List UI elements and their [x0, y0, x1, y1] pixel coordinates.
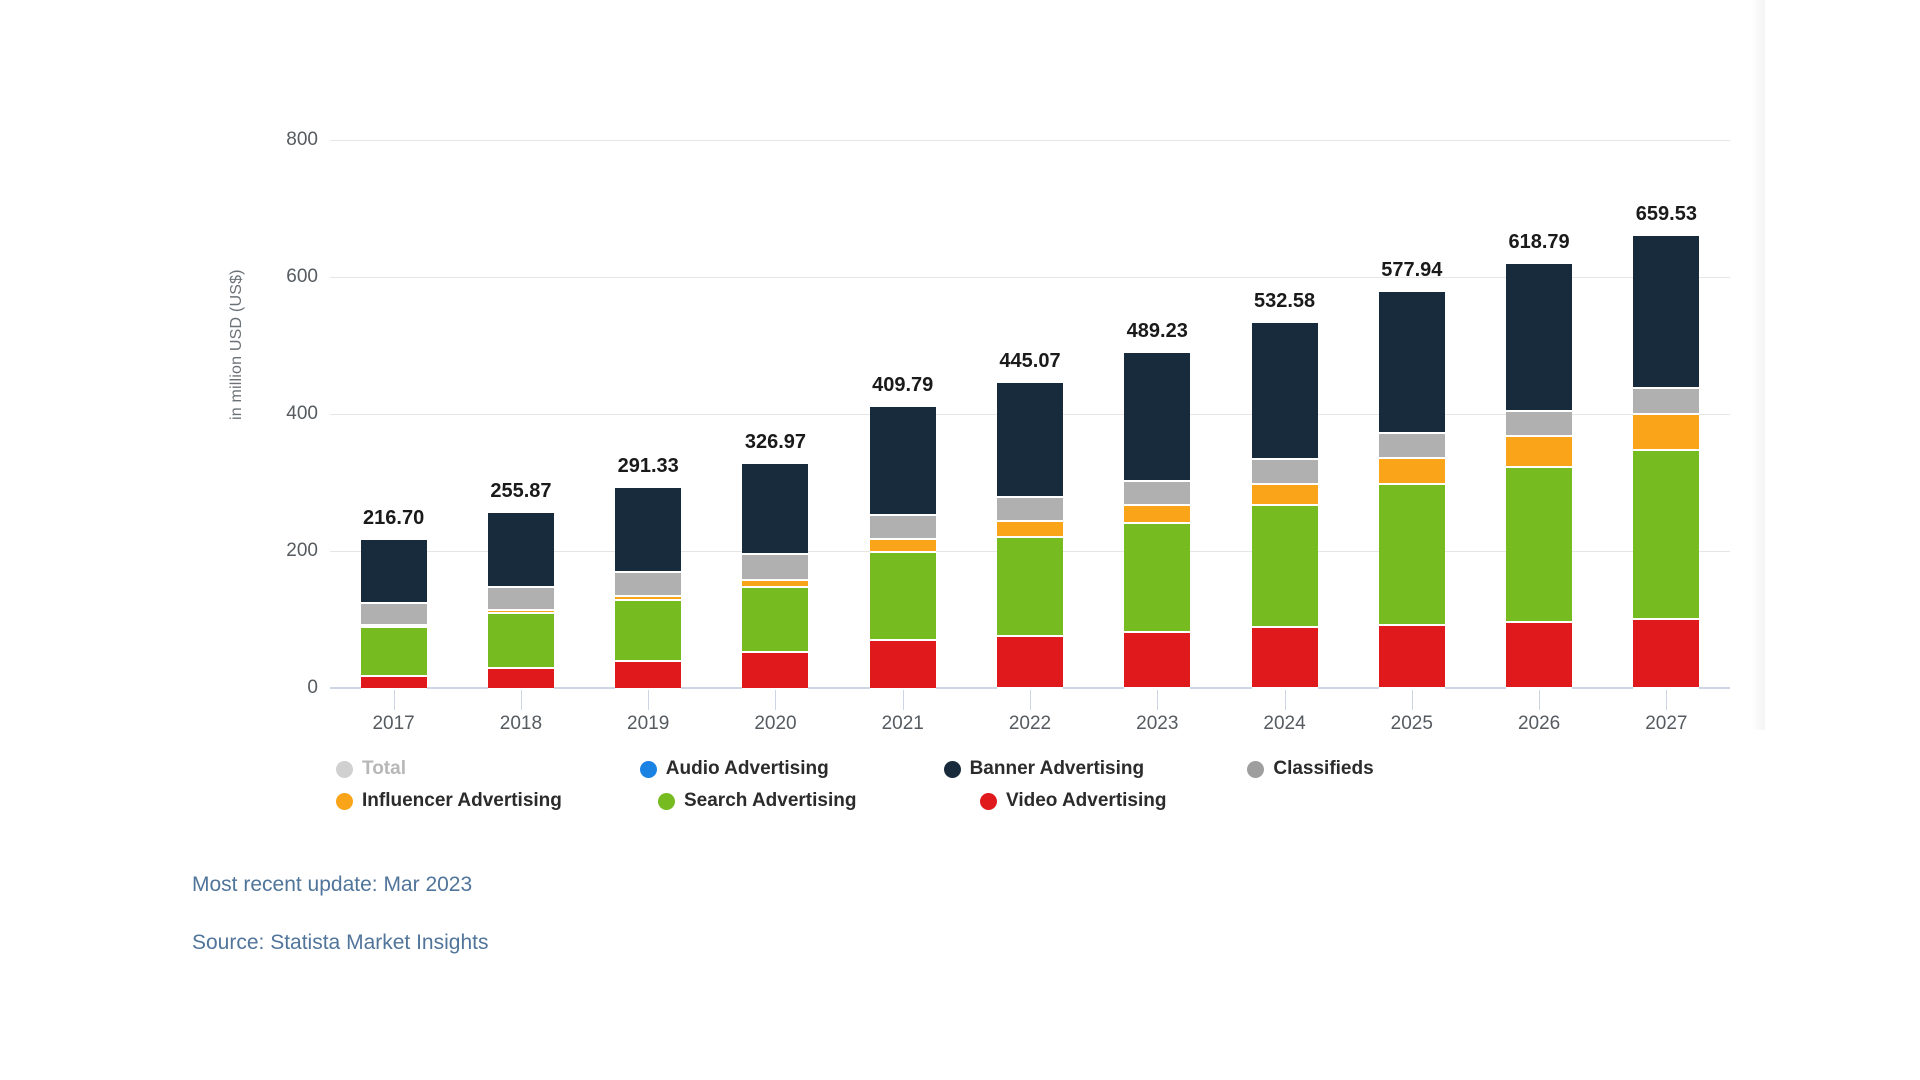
legend-color-dot	[658, 793, 675, 810]
bar-segment-video-advertising[interactable]	[997, 637, 1063, 689]
legend-item-label: Influencer Advertising	[362, 790, 562, 812]
bar-segment-classifieds[interactable]	[615, 573, 681, 597]
legend-item-audio-advertising[interactable]: Audio Advertising	[640, 758, 944, 780]
x-axis-tick-label: 2020	[754, 713, 796, 735]
x-axis-tick-mark	[648, 690, 649, 710]
x-axis-tick-mark	[903, 690, 904, 710]
bar-total-label: 577.94	[1381, 259, 1442, 282]
bar-series-container: 216.702017255.872018291.332019326.972020…	[330, 140, 1730, 688]
legend-item-label: Audio Advertising	[666, 758, 829, 780]
bar-stack[interactable]	[1633, 236, 1699, 688]
bar-segment-video-advertising[interactable]	[1124, 633, 1190, 689]
bar-segment-classifieds[interactable]	[1124, 482, 1190, 506]
bar-segment-banner-advertising[interactable]	[1633, 236, 1699, 387]
bar-total-label: 291.33	[618, 455, 679, 478]
x-axis-tick-label: 2021	[882, 713, 924, 735]
y-axis-tick-label: 600	[198, 266, 318, 288]
bar-total-label: 255.87	[490, 480, 551, 503]
bar-segment-video-advertising[interactable]	[1252, 628, 1318, 689]
bar-segment-video-advertising[interactable]	[1506, 623, 1572, 689]
bar-segment-search-advertising[interactable]	[488, 614, 554, 668]
x-axis-tick-mark	[1539, 690, 1540, 710]
bar-stack[interactable]	[488, 513, 554, 688]
bar-segment-video-advertising[interactable]	[742, 653, 808, 689]
bar-column[interactable]: 326.972020	[742, 140, 808, 688]
bar-total-label: 326.97	[745, 431, 806, 454]
bar-segment-banner-advertising[interactable]	[488, 513, 554, 586]
bar-total-label: 532.58	[1254, 290, 1315, 313]
bar-column[interactable]: 255.872018	[488, 140, 554, 688]
legend-item-label: Search Advertising	[684, 790, 856, 812]
bar-column[interactable]: 409.792021	[870, 140, 936, 688]
legend-color-dot	[336, 761, 353, 778]
bar-segment-influencer-advertising[interactable]	[1379, 459, 1445, 485]
bar-segment-influencer-advertising[interactable]	[1124, 506, 1190, 524]
x-axis-tick-label: 2017	[372, 713, 414, 735]
bar-segment-classifieds[interactable]	[1252, 460, 1318, 485]
bar-segment-video-advertising[interactable]	[615, 662, 681, 689]
bar-segment-banner-advertising[interactable]	[1252, 323, 1318, 458]
x-axis-tick-mark	[1412, 690, 1413, 710]
bar-segment-video-advertising[interactable]	[361, 677, 427, 690]
legend-color-dot	[640, 761, 657, 778]
bar-segment-search-advertising[interactable]	[1506, 468, 1572, 623]
legend-color-dot	[980, 793, 997, 810]
plot-area: 0200400600800 216.702017255.872018291.33…	[330, 140, 1730, 688]
legend-item-label: Banner Advertising	[970, 758, 1145, 780]
bar-segment-influencer-advertising[interactable]	[1506, 437, 1572, 468]
bar-segment-banner-advertising[interactable]	[1124, 353, 1190, 480]
y-axis-tick-label: 200	[198, 540, 318, 562]
bar-segment-search-advertising[interactable]	[615, 601, 681, 662]
bar-column[interactable]: 445.072022	[997, 140, 1063, 688]
legend-color-dot	[944, 761, 961, 778]
bar-column[interactable]: 659.532027	[1633, 140, 1699, 688]
x-axis-tick-mark	[394, 690, 395, 710]
bar-stack[interactable]	[1506, 264, 1572, 688]
bar-segment-banner-advertising[interactable]	[1379, 292, 1445, 432]
bar-segment-banner-advertising[interactable]	[615, 488, 681, 570]
bar-segment-banner-advertising[interactable]	[870, 407, 936, 514]
bar-stack[interactable]	[997, 383, 1063, 688]
bar-total-label: 409.79	[872, 374, 933, 397]
bar-segment-classifieds[interactable]	[488, 588, 554, 611]
x-axis-tick-label: 2027	[1645, 713, 1687, 735]
y-axis-tick-label: 400	[198, 403, 318, 425]
bar-segment-banner-advertising[interactable]	[997, 383, 1063, 496]
bar-stack[interactable]	[1124, 353, 1190, 688]
bar-segment-video-advertising[interactable]	[870, 641, 936, 689]
legend-item-total[interactable]: Total	[336, 758, 640, 780]
bar-column[interactable]: 489.232023	[1124, 140, 1190, 688]
bar-segment-classifieds[interactable]	[1506, 412, 1572, 437]
page-edge-shadow	[1751, 0, 1765, 730]
y-axis-tick-label: 0	[198, 677, 318, 699]
legend-row-secondary: Influencer AdvertisingSearch Advertising…	[336, 790, 1436, 812]
bar-segment-search-advertising[interactable]	[742, 588, 808, 654]
bar-column[interactable]: 577.942025	[1379, 140, 1445, 688]
x-axis-tick-mark	[521, 690, 522, 710]
bar-total-label: 216.70	[363, 507, 424, 530]
legend-item-classifieds[interactable]: Classifieds	[1247, 758, 1436, 780]
bar-total-label: 489.23	[1127, 320, 1188, 343]
bar-segment-influencer-advertising[interactable]	[742, 581, 808, 588]
x-axis-tick-mark	[1030, 690, 1031, 710]
bar-segment-influencer-advertising[interactable]	[870, 540, 936, 553]
y-axis-tick-label: 800	[198, 129, 318, 151]
bar-stack[interactable]	[1379, 292, 1445, 688]
bar-segment-search-advertising[interactable]	[870, 553, 936, 641]
bar-segment-search-advertising[interactable]	[997, 538, 1063, 637]
bar-column[interactable]: 618.792026	[1506, 140, 1572, 688]
legend-color-dot	[336, 793, 353, 810]
bar-segment-video-advertising[interactable]	[488, 669, 554, 690]
bar-segment-video-advertising[interactable]	[1633, 620, 1699, 689]
bar-stack[interactable]	[870, 407, 936, 688]
bar-stack[interactable]	[361, 540, 427, 688]
legend-item-influencer-advertising[interactable]: Influencer Advertising	[336, 790, 658, 812]
legend-item-label: Video Advertising	[1006, 790, 1166, 812]
bar-stack[interactable]	[1252, 323, 1318, 688]
legend-item-search-advertising[interactable]: Search Advertising	[658, 790, 980, 812]
legend-color-dot	[1247, 761, 1264, 778]
x-axis-tick-label: 2025	[1391, 713, 1433, 735]
bar-segment-influencer-advertising[interactable]	[1252, 485, 1318, 507]
chart-footer: Most recent update: Mar 2023 Source: Sta…	[192, 873, 488, 989]
bar-segment-search-advertising[interactable]	[1252, 506, 1318, 628]
x-axis-tick-label: 2023	[1136, 713, 1178, 735]
bar-stack[interactable]	[742, 464, 808, 688]
x-axis-tick-label: 2024	[1263, 713, 1305, 735]
bar-column[interactable]: 291.332019	[615, 140, 681, 688]
bar-column[interactable]: 216.702017	[361, 140, 427, 688]
legend-row-primary: TotalAudio AdvertisingBanner Advertising…	[336, 758, 1436, 780]
x-axis-tick-mark	[1666, 690, 1667, 710]
x-axis-tick-label: 2022	[1009, 713, 1051, 735]
bar-segment-classifieds[interactable]	[1379, 434, 1445, 459]
source-text: Source: Statista Market Insights	[192, 931, 488, 955]
bar-total-label: 618.79	[1508, 231, 1569, 254]
chart-legend: TotalAudio AdvertisingBanner Advertising…	[336, 758, 1436, 822]
bar-segment-banner-advertising[interactable]	[742, 464, 808, 553]
last-update-text: Most recent update: Mar 2023	[192, 873, 488, 897]
bar-total-label: 659.53	[1636, 203, 1697, 226]
x-axis-tick-label: 2019	[627, 713, 669, 735]
bar-segment-classifieds[interactable]	[361, 604, 427, 626]
bar-segment-search-advertising[interactable]	[1379, 485, 1445, 625]
bar-segment-search-advertising[interactable]	[1633, 451, 1699, 620]
bar-segment-video-advertising[interactable]	[1379, 626, 1445, 690]
bar-column[interactable]: 532.582024	[1252, 140, 1318, 688]
bar-segment-classifieds[interactable]	[1633, 389, 1699, 415]
x-axis-tick-label: 2026	[1518, 713, 1560, 735]
bar-total-label: 445.07	[999, 350, 1060, 373]
bar-segment-influencer-advertising[interactable]	[997, 522, 1063, 538]
bar-segment-banner-advertising[interactable]	[361, 540, 427, 602]
bar-segment-banner-advertising[interactable]	[1506, 264, 1572, 410]
bar-stack[interactable]	[615, 488, 681, 688]
bar-segment-search-advertising[interactable]	[1124, 524, 1190, 633]
x-axis-tick-mark	[1157, 690, 1158, 710]
bar-segment-classifieds[interactable]	[870, 516, 936, 540]
bar-segment-classifieds[interactable]	[997, 498, 1063, 522]
legend-item-video-advertising[interactable]: Video Advertising	[980, 790, 1302, 812]
legend-item-label: Total	[362, 758, 406, 780]
chart-page: in million USD (US$) 0200400600800 216.7…	[0, 0, 1920, 1080]
x-axis-tick-mark	[775, 690, 776, 710]
y-axis-title: in million USD (US$)	[228, 269, 246, 420]
bar-segment-classifieds[interactable]	[742, 555, 808, 580]
legend-item-banner-advertising[interactable]: Banner Advertising	[944, 758, 1248, 780]
bar-segment-search-advertising[interactable]	[361, 628, 427, 677]
bar-segment-influencer-advertising[interactable]	[1633, 415, 1699, 451]
x-axis-tick-mark	[1285, 690, 1286, 710]
x-axis-tick-label: 2018	[500, 713, 542, 735]
legend-item-label: Classifieds	[1273, 758, 1373, 780]
